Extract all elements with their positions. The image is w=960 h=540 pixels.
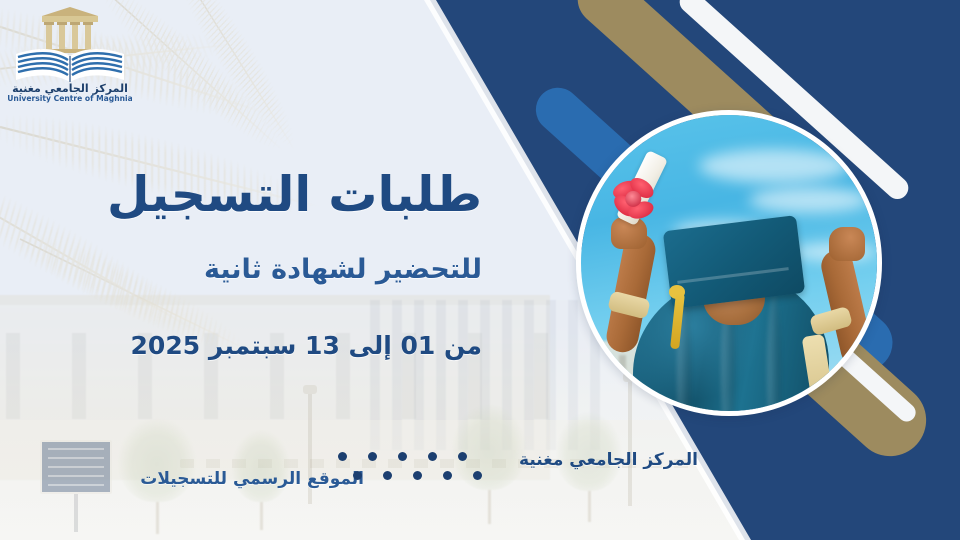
dot-grid-decoration [338,452,496,486]
footer-website-label: الموقع الرسمي للتسجيلات [140,469,364,489]
footer-institution-name: المركز الجامعي مغنية [519,450,698,470]
footer-block: المركز الجامعي مغنية الموقع الرسمي للتسج… [0,0,960,540]
registration-announcement-poster: المركز الجامعي مغنية University Centre o… [0,0,960,540]
